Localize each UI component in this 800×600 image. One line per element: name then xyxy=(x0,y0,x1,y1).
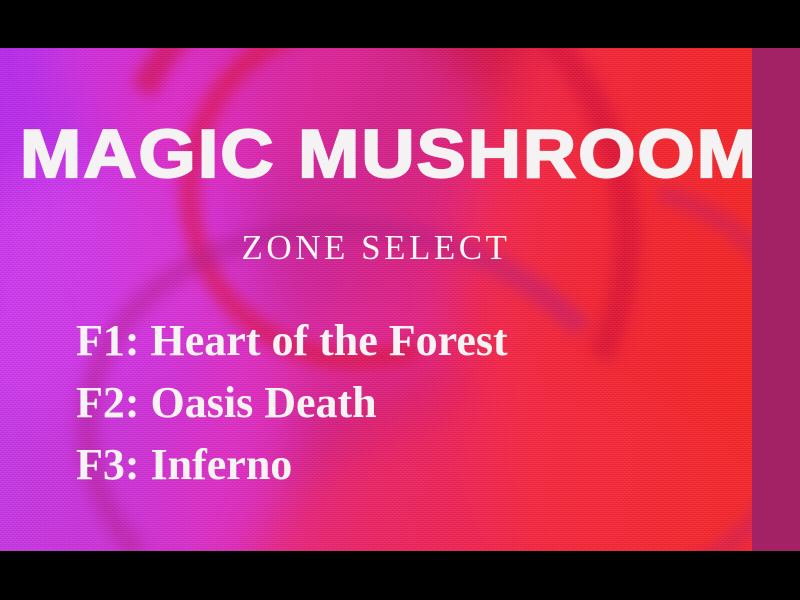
zone-option-f3[interactable]: F3: Inferno xyxy=(76,434,508,496)
letterbox-top xyxy=(0,0,800,48)
game-screen: MAGIC MUSHROOM ZONE SELECT F1: Heart of … xyxy=(0,0,800,600)
screen-content: MAGIC MUSHROOM ZONE SELECT F1: Heart of … xyxy=(0,48,800,551)
zone-option-f1[interactable]: F1: Heart of the Forest xyxy=(76,310,508,372)
letterbox-bottom xyxy=(0,551,800,600)
zone-select-menu: F1: Heart of the Forest F2: Oasis Death … xyxy=(76,310,508,496)
zone-option-f2[interactable]: F2: Oasis Death xyxy=(76,372,508,434)
game-title: MAGIC MUSHROOM xyxy=(20,120,800,188)
zone-select-subtitle: ZONE SELECT xyxy=(0,230,752,265)
right-side-band xyxy=(752,48,800,551)
